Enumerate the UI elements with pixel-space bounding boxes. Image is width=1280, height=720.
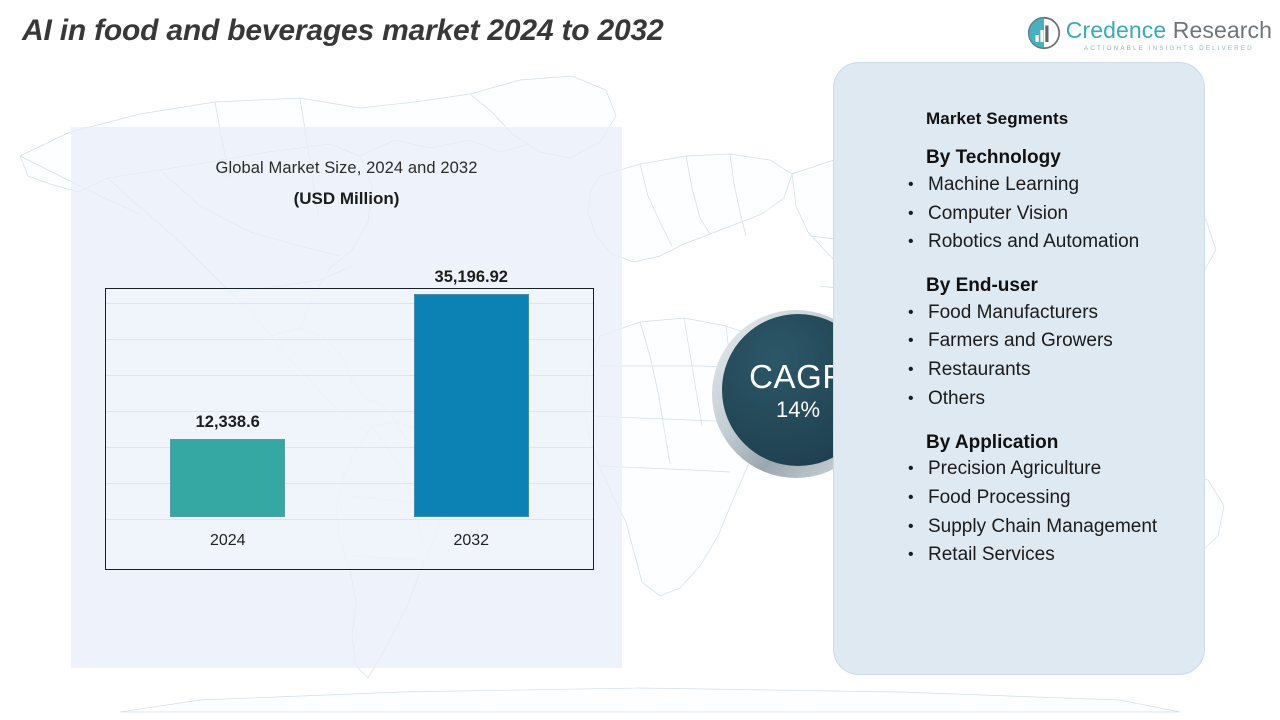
bar-column: 12,338.6 bbox=[158, 413, 298, 517]
list-item[interactable]: •Robotics and Automation bbox=[834, 228, 1204, 257]
list-item[interactable]: •Food Manufacturers bbox=[834, 299, 1204, 328]
bullet-icon: • bbox=[908, 200, 928, 228]
list-item-label: Food Manufacturers bbox=[928, 299, 1098, 328]
segment-list: •Machine Learning•Computer Vision•Roboti… bbox=[834, 171, 1204, 257]
logo-wordmark: Credence Research bbox=[1066, 19, 1272, 42]
bullet-icon: • bbox=[908, 541, 928, 569]
list-item[interactable]: •Retail Services bbox=[834, 541, 1204, 570]
logo-tagline: Actionable Insights Delivered bbox=[1066, 46, 1272, 52]
logo-text: Credence Research Actionable Insights De… bbox=[1066, 16, 1272, 52]
segment-list: •Food Manufacturers•Farmers and Growers•… bbox=[834, 299, 1204, 414]
plot-area: 12,338.635,196.92 20242032 bbox=[106, 289, 593, 569]
bar-chart-circle-icon bbox=[1027, 16, 1061, 50]
segment-heading: By Application bbox=[926, 432, 1204, 454]
bar-series: 12,338.635,196.92 bbox=[106, 297, 593, 517]
list-item-label: Precision Agriculture bbox=[928, 455, 1101, 484]
list-item-label: Machine Learning bbox=[928, 171, 1079, 200]
list-item-label: Retail Services bbox=[928, 541, 1055, 570]
list-item-label: Food Processing bbox=[928, 484, 1071, 513]
segment-group: By Technology•Machine Learning•Computer … bbox=[834, 147, 1204, 257]
list-item[interactable]: •Restaurants bbox=[834, 356, 1204, 385]
segment-group: By End-user•Food Manufacturers•Farmers a… bbox=[834, 275, 1204, 414]
bar-value-label: 35,196.92 bbox=[435, 268, 508, 287]
segment-heading: By Technology bbox=[926, 147, 1204, 169]
list-item[interactable]: •Farmers and Growers bbox=[834, 327, 1204, 356]
segment-group: By Application•Precision Agriculture•Foo… bbox=[834, 432, 1204, 571]
bar-value-label: 12,338.6 bbox=[196, 413, 260, 432]
list-item-label: Farmers and Growers bbox=[928, 327, 1113, 356]
bullet-icon: • bbox=[908, 299, 928, 327]
bullet-icon: • bbox=[908, 171, 928, 199]
x-axis-labels: 20242032 bbox=[106, 527, 593, 555]
gridline bbox=[106, 519, 593, 520]
chart-subheading: (USD Million) bbox=[71, 189, 622, 209]
segments-groups: By Technology•Machine Learning•Computer … bbox=[834, 147, 1204, 570]
bullet-icon: • bbox=[908, 513, 928, 541]
logo-brand-primary: Credence bbox=[1066, 17, 1167, 43]
list-item[interactable]: •Supply Chain Management bbox=[834, 513, 1204, 542]
list-item-label: Computer Vision bbox=[928, 200, 1068, 229]
cagr-value: 14% bbox=[776, 399, 820, 421]
x-axis-label-2024: 2024 bbox=[158, 532, 298, 550]
bullet-icon: • bbox=[908, 228, 928, 256]
segment-list: •Precision Agriculture•Food Processing•S… bbox=[834, 455, 1204, 570]
list-item[interactable]: •Food Processing bbox=[834, 484, 1204, 513]
bullet-icon: • bbox=[908, 327, 928, 355]
bullet-icon: • bbox=[908, 385, 928, 413]
market-segments-panel: Market Segments By Technology•Machine Le… bbox=[833, 62, 1205, 675]
bar-2024 bbox=[170, 439, 285, 517]
list-item-label: Others bbox=[928, 385, 985, 414]
list-item-label: Robotics and Automation bbox=[928, 228, 1139, 257]
chart-heading: Global Market Size, 2024 and 2032 bbox=[71, 159, 622, 178]
list-item-label: Supply Chain Management bbox=[928, 513, 1157, 542]
list-item[interactable]: •Computer Vision bbox=[834, 200, 1204, 229]
list-item[interactable]: •Others bbox=[834, 385, 1204, 414]
x-axis-label-2032: 2032 bbox=[401, 532, 541, 550]
list-item[interactable]: •Precision Agriculture bbox=[834, 455, 1204, 484]
page-title: AI in food and beverages market 2024 to … bbox=[22, 14, 663, 48]
list-item-label: Restaurants bbox=[928, 356, 1030, 385]
bullet-icon: • bbox=[908, 356, 928, 384]
segment-heading: By End-user bbox=[926, 275, 1204, 297]
list-item[interactable]: •Machine Learning bbox=[834, 171, 1204, 200]
bar-chart: 12,338.635,196.92 20242032 bbox=[105, 288, 594, 570]
segments-title: Market Segments bbox=[926, 109, 1204, 129]
bullet-icon: • bbox=[908, 484, 928, 512]
bar-column: 35,196.92 bbox=[401, 268, 541, 517]
brand-logo: Credence Research Actionable Insights De… bbox=[1027, 16, 1272, 52]
bar-2032 bbox=[414, 294, 529, 517]
logo-brand-secondary: Research bbox=[1166, 17, 1272, 43]
bullet-icon: • bbox=[908, 455, 928, 483]
